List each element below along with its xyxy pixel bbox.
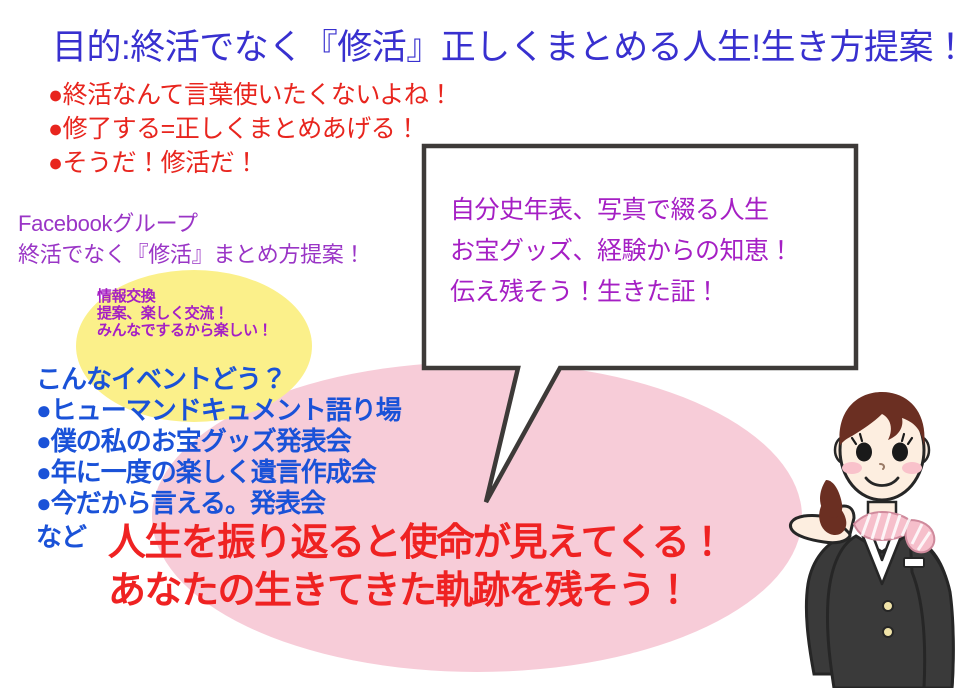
list-item-label: 終活なんて言葉使いたくないよね！	[63, 81, 453, 109]
jacket-button	[883, 601, 893, 611]
event-list-heading: こんなイベントどう？	[36, 364, 401, 395]
list-item-label: 僕の私のお宝グッズ発表会	[51, 426, 351, 456]
slide-canvas: 目的:終活でなく『修活』正しくまとめる人生!生き方提案！ ●終活なんて言葉使いた…	[0, 0, 974, 688]
speech-bubble: 自分史年表、写真で綴る人生 お宝グッズ、経験からの知恵！ 伝え残そう！生きた証！	[424, 146, 856, 372]
list-item: ●今だから言える。発表会	[36, 488, 401, 519]
facebook-group-line: 終活でなく『修活』まとめ方提案！	[18, 239, 365, 270]
list-item: ●修了する=正しくまとめあげる！	[48, 112, 453, 146]
blush-right	[902, 462, 922, 474]
facebook-group-line: Facebookグループ	[18, 208, 365, 239]
list-item: ●僕の私のお宝グッズ発表会	[36, 426, 401, 457]
list-item-label: 年に一度の楽しく遺言作成会	[51, 457, 376, 487]
closing-headline: 人生を振り返ると使命が見えてくる！ あなたの生きてきた軌跡を残そう！	[108, 519, 725, 615]
bullet-dot-icon: ●	[48, 115, 63, 143]
yellow-circle-note: 情報交換 提案、楽しく交流！ みんなでするから楽しい！	[97, 288, 272, 339]
eye-left	[856, 443, 872, 462]
bullet-dot-icon: ●	[48, 81, 63, 109]
list-item: ●そうだ！修活だ！	[48, 146, 453, 180]
bullet-dot-icon: ●	[48, 149, 63, 177]
list-item: ●終活なんて言葉使いたくないよね！	[48, 78, 453, 112]
list-item: ●ヒューマンドキュメント語り場	[36, 395, 401, 426]
speech-bubble-text: 自分史年表、写真で綴る人生 お宝グッズ、経験からの知恵！ 伝え残そう！生きた証！	[450, 190, 793, 313]
bullet-dot-icon: ●	[36, 426, 51, 456]
name-badge	[904, 558, 924, 567]
yellow-circle-note-line: 情報交換	[97, 288, 272, 305]
closing-headline-line: 人生を振り返ると使命が見えてくる！	[108, 519, 725, 567]
yellow-circle-note-line: 提案、楽しく交流！	[97, 305, 272, 322]
bullet-dot-icon: ●	[36, 488, 51, 518]
speech-bubble-line: 自分史年表、写真で綴る人生	[450, 190, 793, 231]
red-points-list: ●終活なんて言葉使いたくないよね！ ●修了する=正しくまとめあげる！ ●そうだ！…	[48, 78, 453, 180]
business-woman-illustration	[782, 384, 974, 688]
list-item-label: ヒューマンドキュメント語り場	[51, 395, 401, 425]
jacket-button	[883, 627, 893, 637]
yellow-circle-note-line: みんなでするから楽しい！	[97, 322, 272, 339]
eye-right	[892, 443, 908, 462]
list-item-label: そうだ！修活だ！	[63, 149, 259, 177]
bullet-dot-icon: ●	[36, 457, 51, 487]
list-item: ●年に一度の楽しく遺言作成会	[36, 457, 401, 488]
speech-bubble-line: 伝え残そう！生きた証！	[450, 272, 793, 313]
page-title: 目的:終活でなく『修活』正しくまとめる人生!生き方提案！	[52, 19, 967, 70]
facebook-group-block: Facebookグループ 終活でなく『修活』まとめ方提案！	[18, 208, 365, 270]
list-item-label: 修了する=正しくまとめあげる！	[63, 115, 420, 143]
speech-bubble-line: お宝グッズ、経験からの知恵！	[450, 231, 793, 272]
blush-left	[842, 462, 862, 474]
bullet-dot-icon: ●	[36, 395, 51, 425]
closing-headline-line: あなたの生きてきた軌跡を残そう！	[108, 567, 725, 615]
list-item-label: 今だから言える。発表会	[51, 488, 325, 518]
